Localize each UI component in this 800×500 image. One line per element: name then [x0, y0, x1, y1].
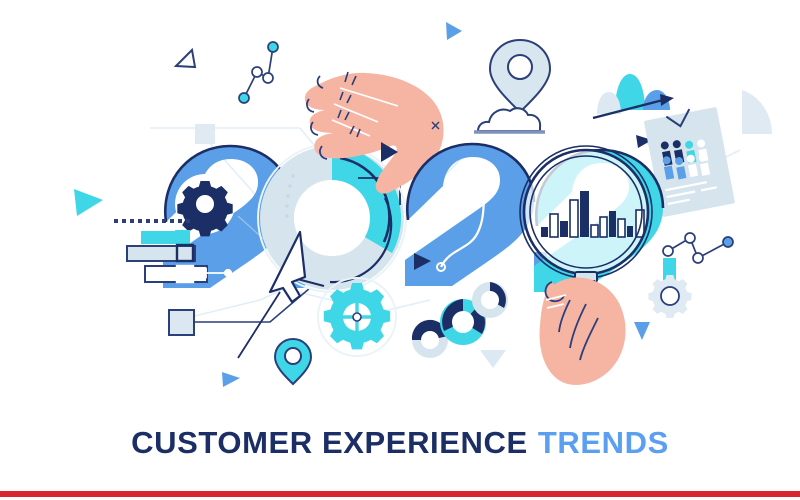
triangle-icon-outline	[176, 50, 195, 67]
page-title-accent: TRENDS	[538, 425, 669, 460]
gear-icon-navy	[177, 181, 232, 236]
pie-chart-cluster-icon	[412, 282, 508, 358]
node-graph-icon-left	[239, 42, 278, 103]
footer-rule	[0, 491, 800, 497]
page-title: CUSTOMER EXPERIENCETRENDS	[0, 424, 800, 462]
triangle-icon-cyan-left	[74, 189, 103, 216]
dotted-line-icon	[114, 219, 190, 223]
location-pin-icon-small	[275, 339, 311, 384]
cloud-icon	[474, 108, 545, 132]
triangle-icon-pale	[480, 350, 506, 368]
triangle-icon-blue-lower	[634, 322, 650, 340]
triangle-icon-blue-top	[446, 22, 462, 40]
pale-square-decoration	[195, 124, 215, 144]
triangle-icon-blue-left	[222, 372, 240, 387]
pie-small-right	[472, 282, 508, 318]
gear-icon-cyan	[318, 278, 396, 356]
illustration-canvas: CUSTOMER EXPERIENCETRENDS	[0, 0, 800, 500]
page-title-main: CUSTOMER EXPERIENCE	[131, 425, 528, 460]
bell-curve-chart-icon	[593, 74, 674, 118]
checkbox-icon[interactable]	[169, 310, 194, 335]
location-pin-icon-large	[490, 40, 550, 112]
pale-arc-right-edge	[742, 90, 772, 134]
hand-holding-icon	[540, 278, 626, 385]
gear-icon-pale	[649, 275, 692, 318]
